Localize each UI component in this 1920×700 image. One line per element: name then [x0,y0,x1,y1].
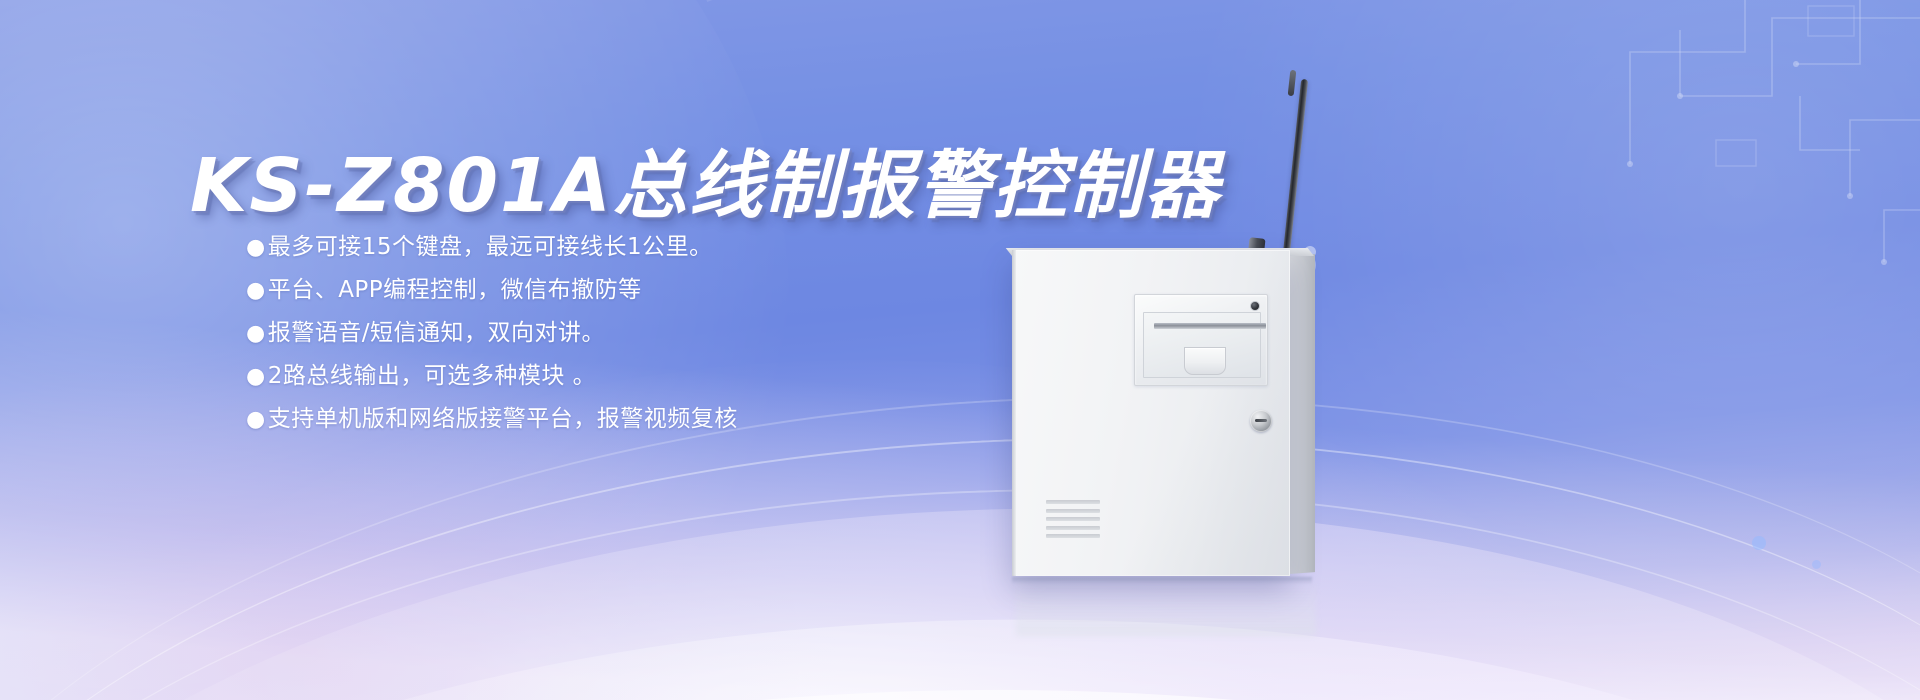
wave-ribbon-3 [0,682,1920,700]
feature-text: 2路总线输出，可选多种模块 。 [268,365,596,388]
bullet-icon: ● [246,366,266,388]
door-left-edge [1012,250,1016,576]
wave-ribbon-1 [0,468,1920,700]
feature-text: 支持单机版和网络版接警平台，报警视频复核 [268,408,738,431]
light-dot-3 [1752,536,1766,550]
feature-text: 报警语音/短信通知，双向对讲。 [268,322,605,345]
feature-text: 平台、APP编程控制，微信布撤防等 [268,279,642,302]
list-item: ● 支持单机版和网络版接警平台，报警视频复核 [246,408,1006,431]
bullet-icon: ● [246,280,266,302]
window-slot [1154,323,1266,329]
vent-slot [1046,500,1100,504]
light-dot-4 [1812,560,1821,569]
display-window-inner [1143,312,1261,378]
wave-ribbon-2 [0,599,1920,700]
enclosure-side-wall [1289,254,1315,574]
list-item: ● 2路总线输出，可选多种模块 。 [246,365,1006,388]
ventilation-louvers [1046,500,1100,538]
bullet-icon: ● [246,409,266,431]
product-banner: KS-Z801A总线制报警控制器 ● 最多可接15个键盘，最远可接线长1公里。 … [0,0,1920,700]
bullet-icon: ● [246,237,266,259]
vent-slot [1046,534,1100,538]
status-led-icon [1250,301,1260,311]
vent-slot [1046,526,1100,530]
list-item: ● 平台、APP编程控制，微信布撤防等 [246,279,1006,302]
wave-line-3 [0,458,1920,700]
key-lock-icon [1250,410,1272,432]
feature-text: 最多可接15个键盘，最远可接线长1公里。 [268,236,713,259]
window-handle-icon [1184,347,1226,375]
product-reflection [1016,576,1316,636]
enclosure-door [1012,250,1290,576]
vent-slot [1046,509,1100,513]
bullet-icon: ● [246,323,266,345]
recessed-display-window [1134,294,1268,386]
metal-enclosure [1012,250,1314,580]
vent-slot [1046,517,1100,521]
list-item: ● 最多可接15个键盘，最远可接线长1公里。 [246,236,1006,259]
product-image [1010,60,1480,620]
list-item: ● 报警语音/短信通知，双向对讲。 [246,322,1006,345]
feature-list: ● 最多可接15个键盘，最远可接线长1公里。 ● 平台、APP编程控制，微信布撤… [246,236,1006,451]
antenna-tip-icon [1288,70,1297,96]
door-bottom-shadow [1012,577,1312,584]
